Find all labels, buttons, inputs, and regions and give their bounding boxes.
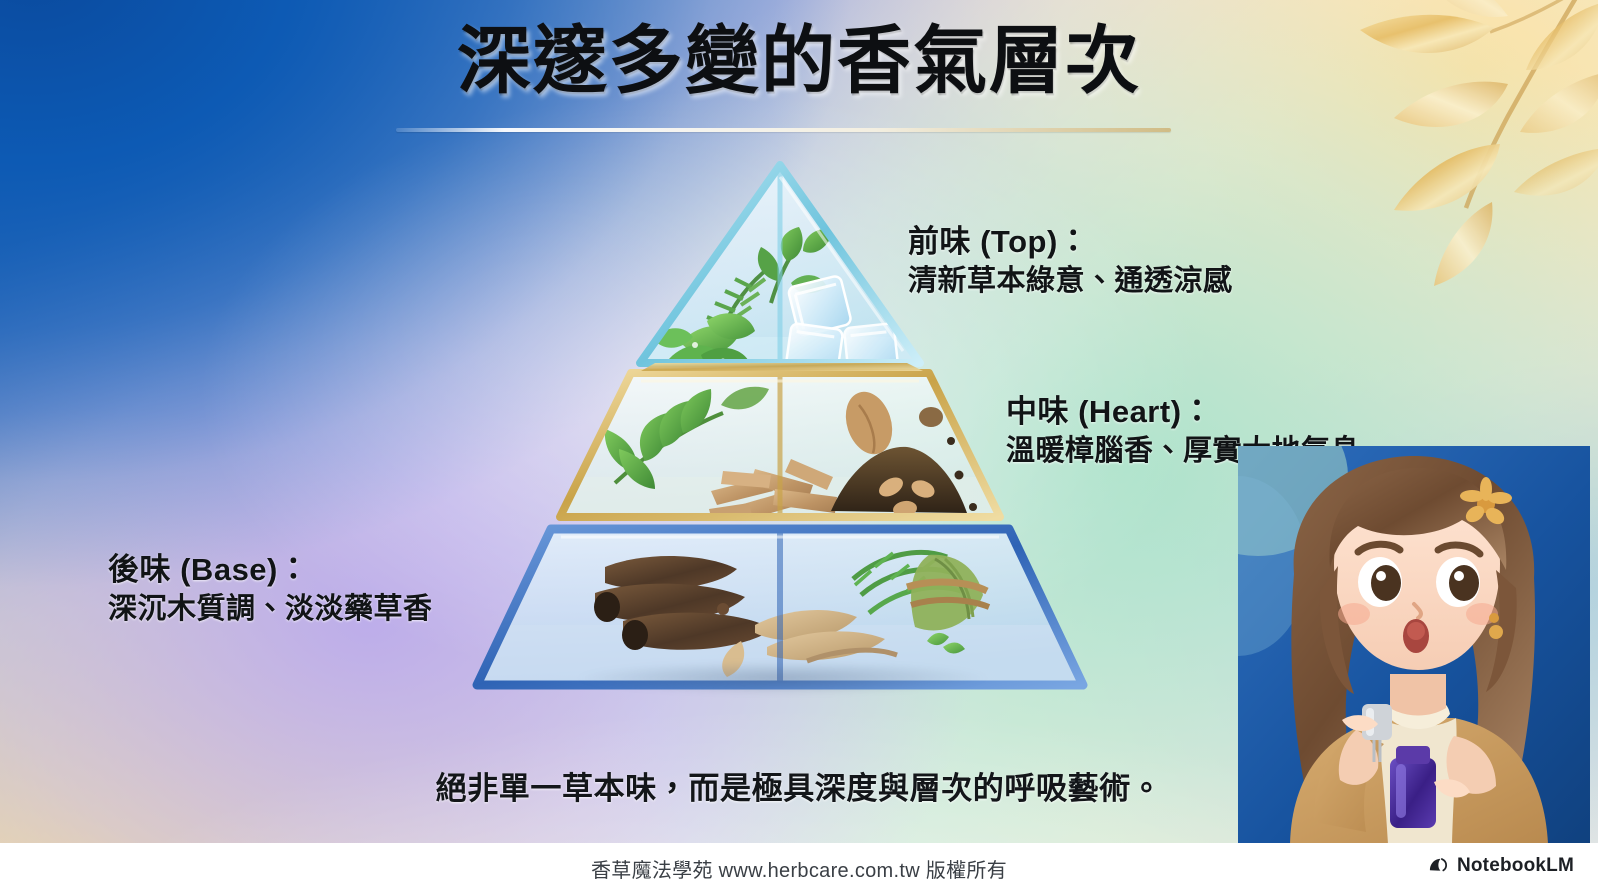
title-divider	[396, 128, 1171, 132]
note-base-heading: 後味 (Base)：	[108, 550, 433, 590]
girl-with-dropper-bottle-illustration	[1238, 446, 1590, 844]
footer-bar: 香草魔法學苑 www.herbcare.com.tw 版權所有 Notebook…	[0, 843, 1598, 892]
note-base-detail: 深沉木質調、淡淡藥草香	[108, 590, 433, 628]
notebooklm-logo-icon	[1427, 855, 1449, 877]
note-base: 後味 (Base)： 深沉木質調、淡淡藥草香	[108, 550, 433, 629]
pyramid-tier-heart	[560, 373, 1000, 522]
pyramid-shadow	[495, 655, 1070, 701]
footer-copyright: 香草魔法學苑 www.herbcare.com.tw 版權所有	[0, 854, 1598, 883]
page-title: 深邃多變的香氣層次	[457, 22, 1141, 100]
pyramid-plinth	[641, 363, 923, 371]
page-title-wrap: 深邃多變的香氣層次	[0, 22, 1598, 100]
pyramid-tier-top	[640, 165, 920, 378]
note-top-detail: 清新草本綠意、通透涼感	[908, 262, 1233, 300]
notebooklm-brand-label: NotebookLM	[1457, 855, 1574, 877]
notebooklm-brand: NotebookLM	[1427, 855, 1574, 877]
note-heart-heading: 中味 (Heart)：	[1006, 392, 1360, 432]
note-top-heading: 前味 (Top)：	[908, 222, 1233, 262]
note-top: 前味 (Top)： 清新草本綠意、通透涼感	[908, 222, 1233, 301]
slide-canvas: 深邃多變的香氣層次	[0, 0, 1598, 892]
